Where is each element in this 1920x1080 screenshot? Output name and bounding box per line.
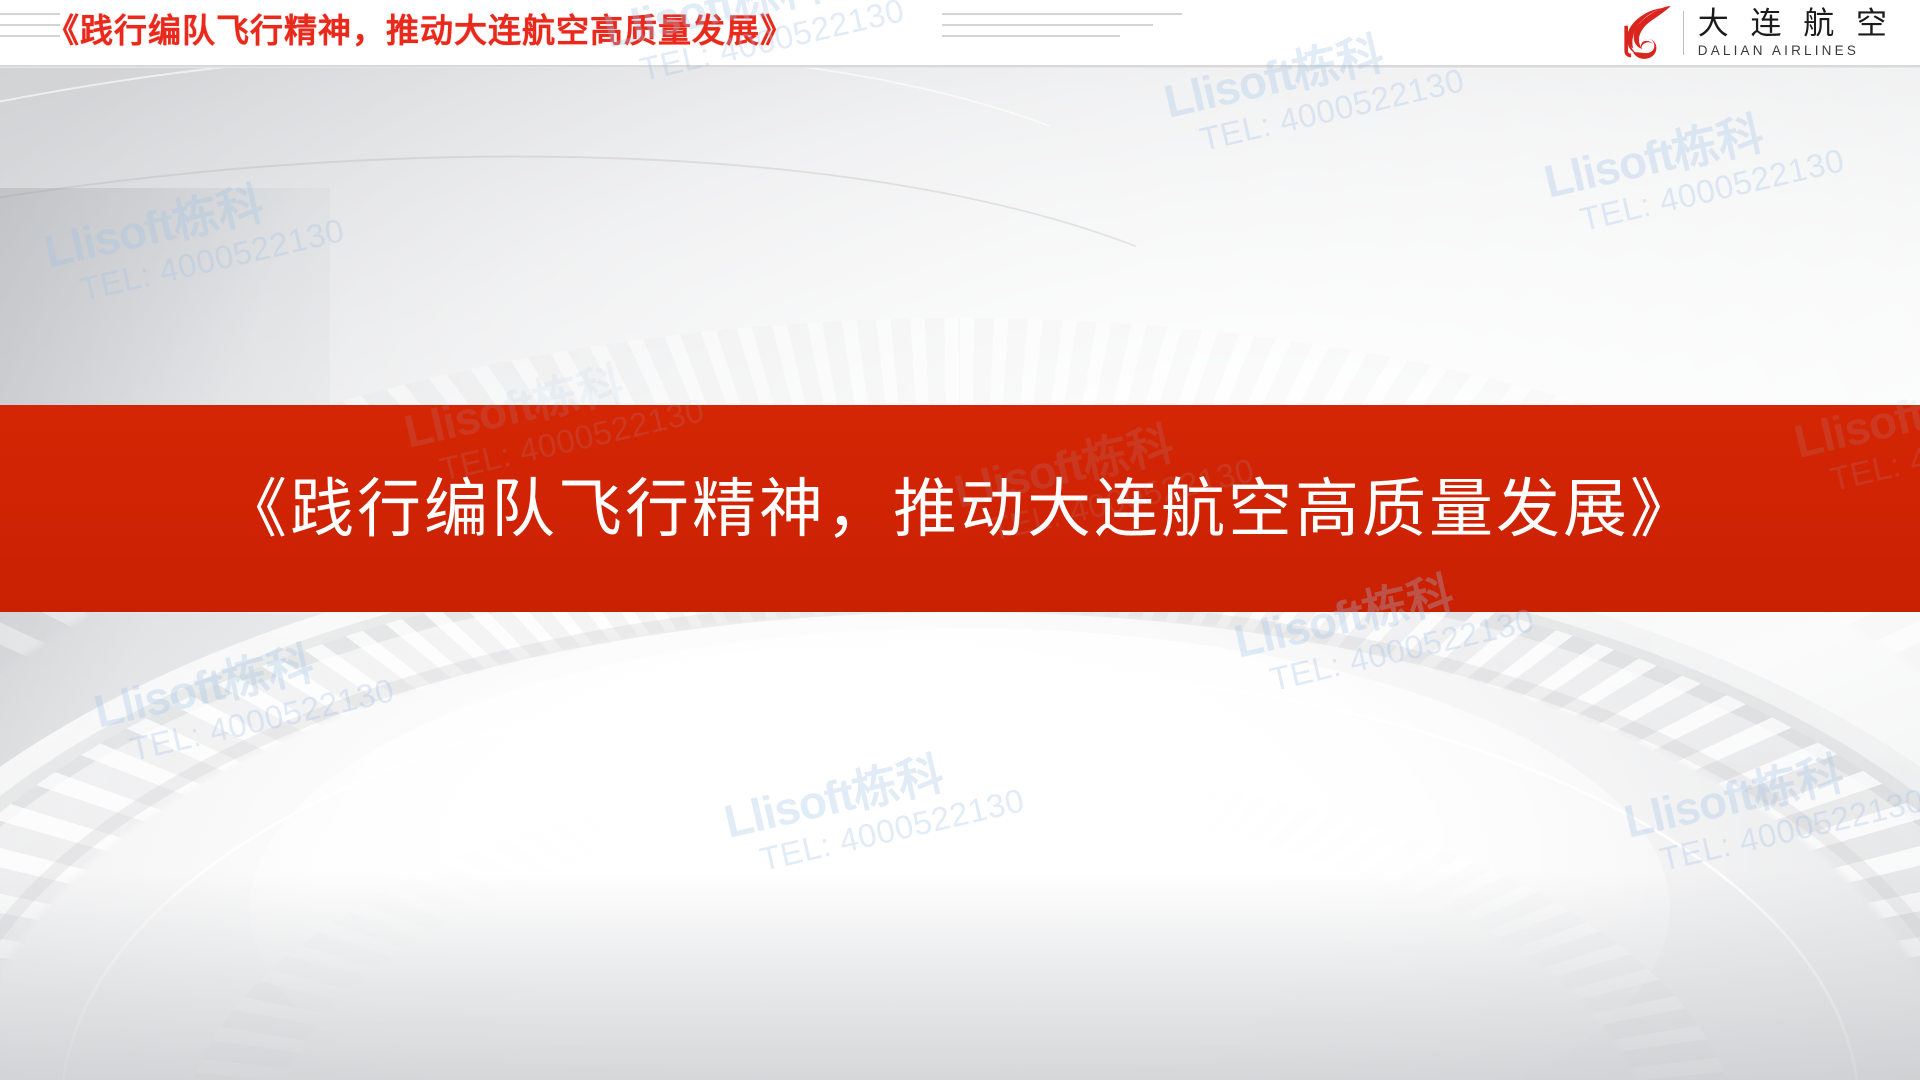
header-bottom-rule	[0, 65, 1920, 68]
header-decor-lines-right	[942, 13, 1182, 45]
logo-name-cn: 大 连 航 空	[1698, 7, 1894, 41]
brand-logo[interactable]: 大 连 航 空 DALIAN AIRLINES	[1613, 2, 1894, 64]
logo-name-en: DALIAN AIRLINES	[1698, 42, 1894, 59]
dalian-airlines-phoenix-icon	[1613, 5, 1675, 61]
slide-main-title: 《践行编队飞行精神，推动大连航空高质量发展》	[223, 469, 1697, 549]
header-title: 《践行编队飞行精神，推动大连航空高质量发展》	[46, 6, 794, 56]
logo-wordmark: 大 连 航 空 DALIAN AIRLINES	[1698, 7, 1894, 59]
logo-divider	[1683, 11, 1684, 55]
title-banner: 《践行编队飞行精神，推动大连航空高质量发展》	[0, 405, 1920, 612]
presentation-slide: 《践行编队飞行精神，推动大连航空高质量发展》 《践行编队飞行精神，推动大连航空高…	[0, 0, 1920, 1080]
slide-header: 《践行编队飞行精神，推动大连航空高质量发展》 大 连 航 空 DALIAN AI…	[0, 0, 1920, 68]
